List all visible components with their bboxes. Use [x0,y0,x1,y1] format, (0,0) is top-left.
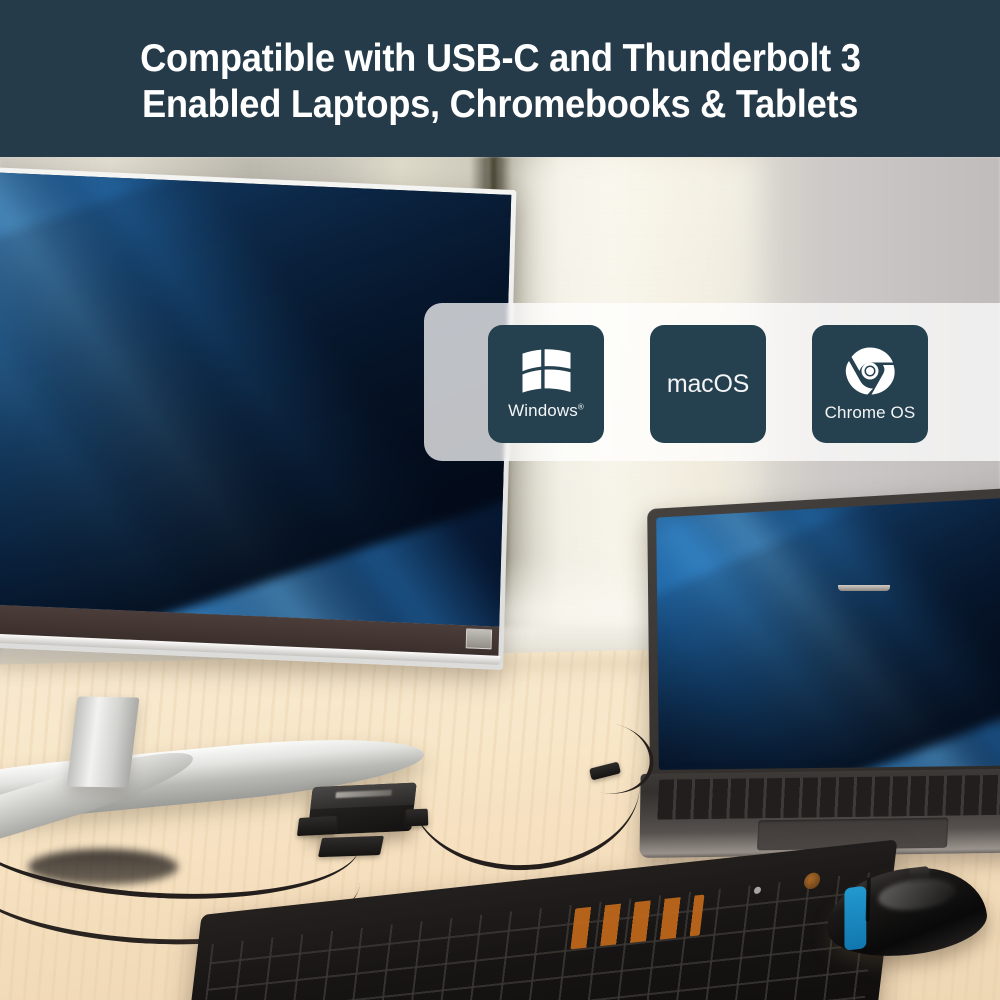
header-title-line-1: Compatible with USB-C and Thunderbolt 3 [140,36,861,82]
marketing-image: Windows® macOS [0,0,1000,1000]
os-badge-label-windows: Windows® [508,401,584,421]
usb-hub-port-right [406,809,429,827]
header-banner: Compatible with USB-C and Thunderbolt 3 … [0,0,1000,157]
laptop-base [639,768,1000,858]
registered-trademark-mark: ® [578,402,584,411]
usb-hub-plug-b [318,836,384,857]
os-badge-chromeos[interactable]: Chrome OS [812,325,928,443]
chrome-logo-icon [845,346,895,396]
os-badge-label-chromeos: Chrome OS [825,403,916,423]
windows-flag-icon [520,348,572,394]
laptop [640,509,1000,869]
os-badge-list: Windows® macOS [424,323,1000,445]
os-badge-label-macos: macOS [667,370,749,399]
product-photo: Windows® macOS [0,157,1000,1000]
laptop-lid-latch [838,585,890,591]
monitor-brand-badge [466,628,493,649]
os-badge-macos[interactable]: macOS [650,325,766,443]
laptop-screen [656,495,1000,770]
header-title-line-2: Enabled Laptops, Chromebooks & Tablets [142,82,858,128]
mouse-accent-stripe [844,886,866,951]
usb-hub-plug-a [297,816,337,836]
os-badge-windows[interactable]: Windows® [488,325,604,443]
laptop-keyboard [657,774,1000,819]
laptop-lid [647,484,1000,779]
